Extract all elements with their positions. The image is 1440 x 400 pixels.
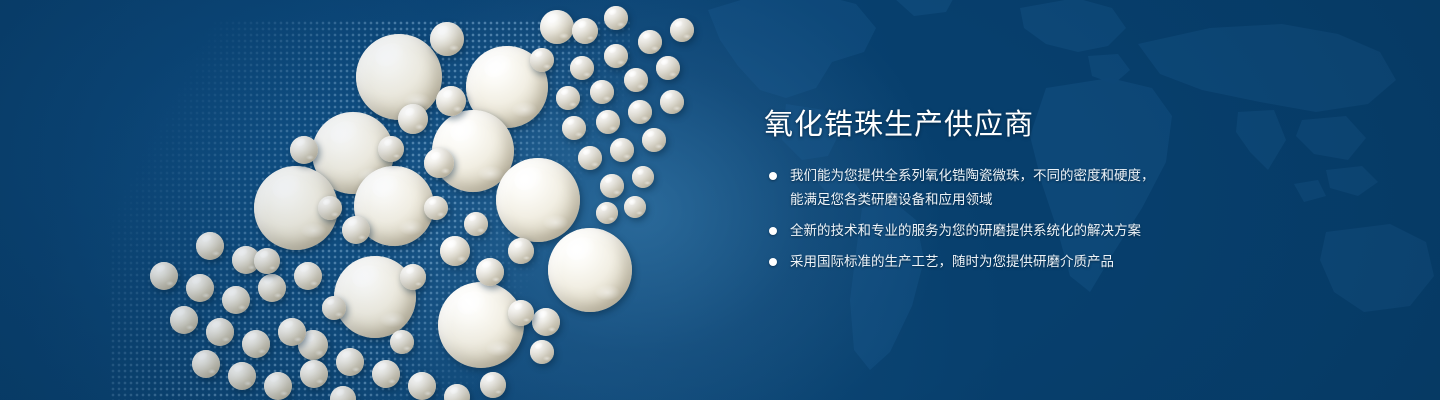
bullet-dot-icon — [769, 258, 777, 266]
page-title: 氧化锆珠生产供应商 — [764, 108, 1324, 142]
banner-copy: 氧化锆珠生产供应商 我们能为您提供全系列氧化锆陶瓷微珠，不同的密度和硬度， 能满… — [764, 108, 1324, 281]
hero-banner: 氧化锆珠生产供应商 我们能为您提供全系列氧化锆陶瓷微珠，不同的密度和硬度， 能满… — [0, 0, 1440, 400]
list-item-line: 采用国际标准的生产工艺，随时为您提供研磨介质产品 — [790, 250, 1324, 274]
bullet-dot-icon — [769, 227, 777, 235]
list-item: 采用国际标准的生产工艺，随时为您提供研磨介质产品 — [764, 250, 1324, 274]
list-item-line: 我们能为您提供全系列氧化锆陶瓷微珠，不同的密度和硬度， — [790, 164, 1324, 188]
list-item: 全新的技术和专业的服务为您的研磨提供系统化的解决方案 — [764, 219, 1324, 243]
list-item-line: 全新的技术和专业的服务为您的研磨提供系统化的解决方案 — [790, 219, 1324, 243]
list-item: 我们能为您提供全系列氧化锆陶瓷微珠，不同的密度和硬度， 能满足您各类研磨设备和应… — [764, 164, 1324, 212]
feature-list: 我们能为您提供全系列氧化锆陶瓷微珠，不同的密度和硬度， 能满足您各类研磨设备和应… — [764, 164, 1324, 274]
list-item-line: 能满足您各类研磨设备和应用领域 — [790, 188, 1324, 212]
bullet-dot-icon — [769, 172, 777, 180]
